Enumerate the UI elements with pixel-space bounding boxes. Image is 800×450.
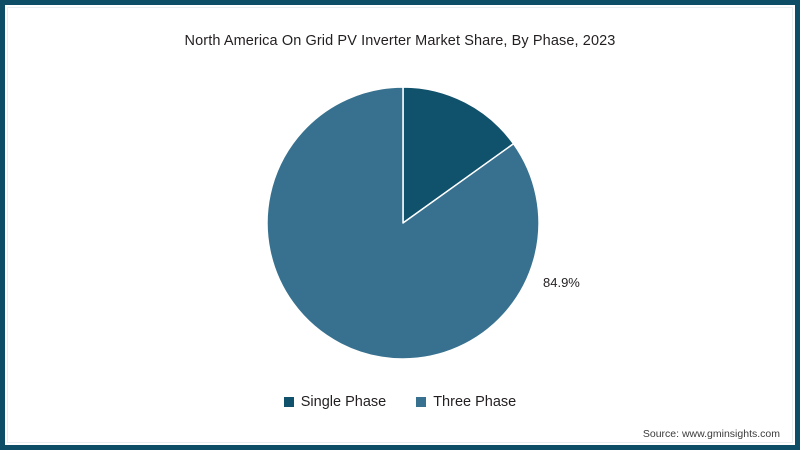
source-attribution: Source: www.gminsights.com xyxy=(643,428,780,440)
pie-chart-svg xyxy=(266,86,540,360)
legend-swatch-single-phase xyxy=(284,397,294,407)
slice-value-label-three-phase: 84.9% xyxy=(543,275,580,290)
legend-swatch-three-phase xyxy=(416,397,426,407)
legend-item-single-phase[interactable]: Single Phase xyxy=(284,394,386,410)
chart-title: North America On Grid PV Inverter Market… xyxy=(0,33,800,49)
chart-figure: North America On Grid PV Inverter Market… xyxy=(0,0,800,450)
pie-chart xyxy=(266,86,540,360)
legend-item-three-phase[interactable]: Three Phase xyxy=(416,394,516,410)
chart-legend: Single Phase Three Phase xyxy=(0,394,800,410)
legend-label-three-phase: Three Phase xyxy=(433,394,516,410)
legend-label-single-phase: Single Phase xyxy=(301,394,386,410)
